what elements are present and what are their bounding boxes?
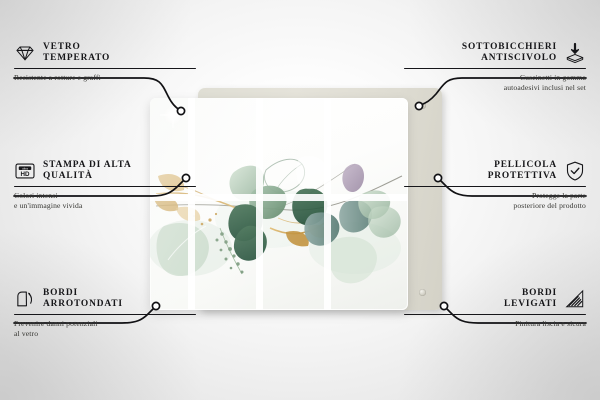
feature-title-line2: LEVIGATI xyxy=(504,299,557,310)
feature-title-line1: STAMPA DI ALTA xyxy=(43,160,132,171)
feature-rule xyxy=(404,314,586,316)
feature-description: Prevenire danni potenziali al vetro xyxy=(14,319,196,338)
feature-title-line1: BORDI xyxy=(504,288,557,299)
feature-title-line1: SOTTOBICCHIERI xyxy=(462,42,557,53)
feature-callout-bordi-arrotondati: BORDI ARROTONDATI Prevenire danni potenz… xyxy=(14,288,196,339)
shield-check-icon xyxy=(564,160,586,182)
infographic-canvas: VETRO TEMPERATO Resistente a rotture e g… xyxy=(0,0,600,400)
feature-rule xyxy=(404,186,586,188)
feature-title-line2: TEMPERATO xyxy=(43,53,110,64)
feature-callout-stampa-di-alta-qualita: ultra HD STAMPA DI ALTA QUALITÀ Colori i… xyxy=(14,160,196,211)
feature-title-line1: PELLICOLA xyxy=(488,160,557,171)
feature-title-line1: BORDI xyxy=(43,288,123,299)
rounded-corner-icon xyxy=(14,288,36,310)
polished-edge-hatch-icon xyxy=(564,288,586,310)
feature-callout-vetro-temperato: VETRO TEMPERATO Resistente a rotture e g… xyxy=(14,42,196,83)
ultra-hd-icon: ultra HD xyxy=(14,160,36,182)
feature-description: Colori intensi e un'immagine vivida xyxy=(14,191,196,210)
feature-description: Resistente a rotture e graffi xyxy=(14,73,196,83)
feature-callout-bordi-levigati: BORDI LEVIGATI Finitura liscia e sicura xyxy=(404,288,586,329)
feature-callout-sottobicchieri-antiscivolo: SOTTOBICCHIERI ANTISCIVOLO Cuscinetti in… xyxy=(404,42,586,93)
feature-title-line1: VETRO xyxy=(43,42,110,53)
feature-title-line2: ARROTONDATI xyxy=(43,299,123,310)
feature-rule xyxy=(14,68,196,70)
feature-rule xyxy=(14,314,196,316)
svg-text:ultra: ultra xyxy=(22,167,28,171)
feature-description: Finitura liscia e sicura xyxy=(404,319,586,329)
feature-title-line2: QUALITÀ xyxy=(43,171,132,182)
feature-description: Cuscinetti in gomma autoadesivi inclusi … xyxy=(404,73,586,92)
rubber-pad-top-right xyxy=(419,102,426,109)
feature-callout-pellicola-protettiva: PELLICOLA PROTETTIVA Protegge la parte p… xyxy=(404,160,586,211)
feature-title-line2: ANTISCIVOLO xyxy=(462,53,557,64)
feature-title-line2: PROTETTIVA xyxy=(488,171,557,182)
feature-description: Protegge la parte posteriore del prodott… xyxy=(404,191,586,210)
feature-rule xyxy=(14,186,196,188)
feature-rule xyxy=(404,68,586,70)
diamond-icon xyxy=(14,42,36,64)
anti-slip-pad-icon xyxy=(564,42,586,64)
svg-text:HD: HD xyxy=(21,172,30,179)
